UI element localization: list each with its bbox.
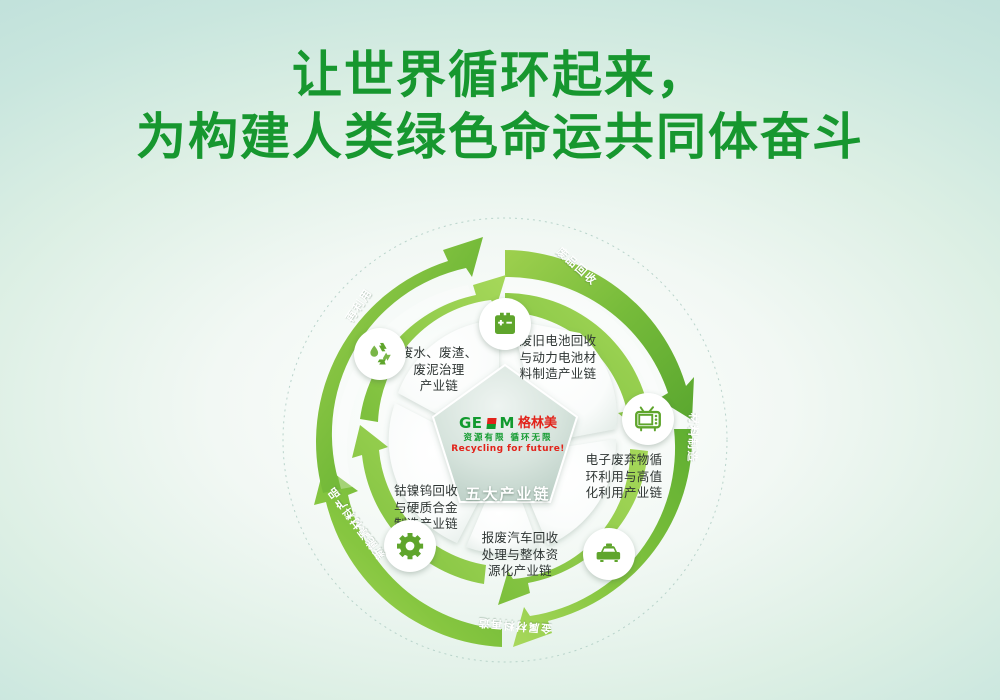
gem-slogan-cn: 资源有限 循环无限: [435, 433, 581, 443]
page-title: 让世界循环起来， 为构建人类绿色命运共同体奋斗: [0, 44, 1000, 168]
battery-icon: [490, 309, 520, 339]
gem-chinese-name: 格林美: [518, 417, 557, 430]
segment-icon-wastewater[interactable]: [354, 328, 406, 380]
industry-chain-diagram: 废品回收 再利用 材料制造 新能源材料产品 金属材料再造 GE M 格林美 资源…: [280, 215, 730, 665]
gem-mark-text: GE: [459, 416, 483, 431]
segment-icon-endoflife-vehicle[interactable]: [583, 528, 635, 580]
segment-label-endoflife-vehicle: 报废汽车回收 处理与整体资 源化产业链: [468, 530, 572, 580]
ring-label-material-manufacture: 材料制造: [684, 413, 702, 464]
gem-flag-icon: [486, 418, 496, 429]
poster-canvas: 让世界循环起来， 为构建人类绿色命运共同体奋斗: [0, 0, 1000, 700]
segment-label-ewaste: 电子废弃物循 环利用与高值 化利用产业链: [572, 452, 676, 502]
segment-icon-battery[interactable]: [479, 298, 531, 350]
segment-icon-ewaste[interactable]: [622, 393, 674, 445]
title-line-2: 为构建人类绿色命运共同体奋斗: [0, 106, 1000, 168]
gem-logo-wordmark: GE M 格林美: [435, 415, 581, 431]
segment-icon-cobalt-nickel[interactable]: [384, 520, 436, 572]
water-recycle-icon: [365, 339, 395, 369]
gem-slogan-en: Recycling for future!: [435, 444, 581, 455]
title-line-1: 让世界循环起来，: [0, 44, 1000, 106]
center-caption: 五大产业链: [435, 483, 581, 504]
gem-mark-text2: M: [500, 416, 515, 431]
gear-icon: [395, 531, 425, 561]
car-icon: [594, 539, 624, 569]
gem-logo: GE M 格林美 资源有限 循环无限 Recycling for future!: [435, 415, 581, 455]
tv-icon: [633, 404, 663, 434]
